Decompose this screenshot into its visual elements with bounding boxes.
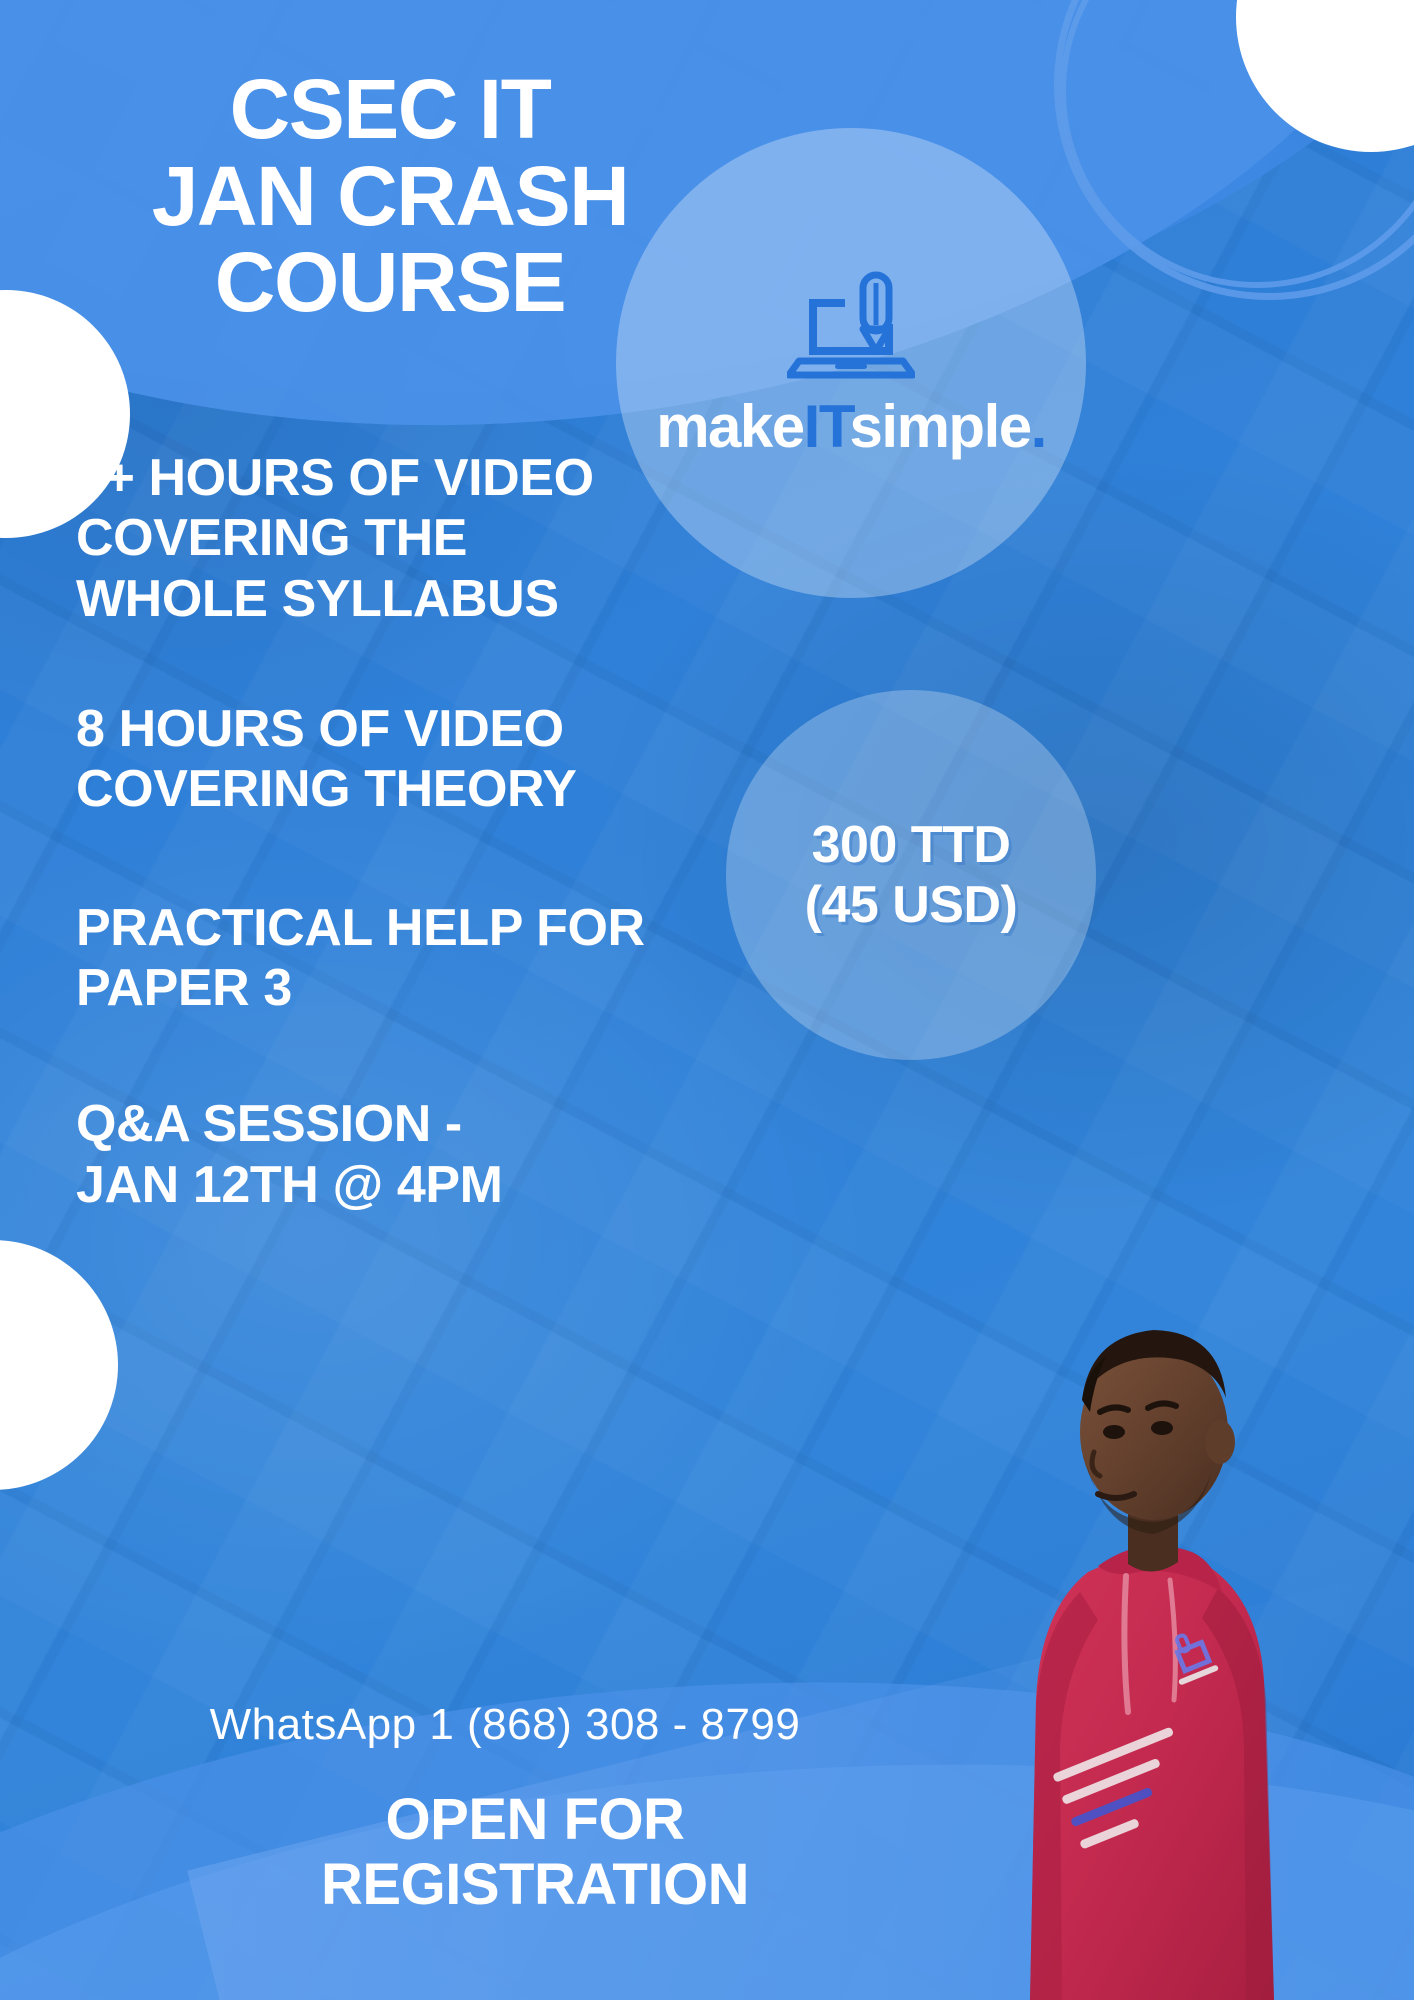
feature-item-theory-hours: 8 HOURS OF VIDEO COVERING THEORY — [76, 699, 716, 820]
feature-line: 8 HOURS OF VIDEO — [76, 699, 716, 759]
feature-line: Q&A SESSION - — [76, 1094, 716, 1154]
feature-line: COVERING THEORY — [76, 759, 716, 819]
instructor-photo — [1002, 1000, 1302, 2000]
price-usd: (45 USD) — [805, 875, 1018, 935]
price-local: 300 TTD — [812, 815, 1011, 875]
laptop-pencil-icon — [787, 269, 915, 381]
wordmark-dot: . — [1031, 393, 1046, 460]
feature-line: JAN 12TH @ 4PM — [76, 1155, 716, 1215]
promo-flyer: makeITsimple. CSEC IT JAN CRASH COURSE 6… — [0, 0, 1414, 2000]
cta-line-2: REGISTRATION — [0, 1853, 1070, 1918]
feature-item-paper-3: PRACTICAL HELP FOR PAPER 3 — [76, 898, 716, 1019]
feature-line: WHOLE SYLLABUS — [76, 569, 716, 629]
feature-line: PRACTICAL HELP FOR — [76, 898, 716, 958]
feature-item-video-hours: 6+ HOURS OF VIDEO COVERING THE WHOLE SYL… — [76, 448, 716, 629]
title-line-2: JAN CRASH — [60, 153, 720, 240]
cta-line-1: OPEN FOR — [0, 1788, 1070, 1853]
feature-item-qa-session: Q&A SESSION - JAN 12TH @ 4PM — [76, 1094, 716, 1215]
feature-line: 6+ HOURS OF VIDEO — [76, 448, 716, 508]
registration-cta: OPEN FOR REGISTRATION — [0, 1788, 1070, 1918]
instructor-figure — [1002, 1000, 1302, 2000]
title-line-1: CSEC IT — [60, 66, 720, 153]
whatsapp-contact[interactable]: WhatsApp 1 (868) 308 - 8799 — [0, 1700, 1010, 1750]
title-line-3: COURSE — [60, 239, 720, 326]
poster-title: CSEC IT JAN CRASH COURSE — [60, 66, 720, 326]
wordmark-it: IT — [804, 393, 850, 460]
feature-line: COVERING THE — [76, 508, 716, 568]
feature-line: PAPER 3 — [76, 958, 716, 1018]
wordmark-simple: simple — [850, 393, 1031, 460]
feature-list: 6+ HOURS OF VIDEO COVERING THE WHOLE SYL… — [76, 448, 716, 1215]
